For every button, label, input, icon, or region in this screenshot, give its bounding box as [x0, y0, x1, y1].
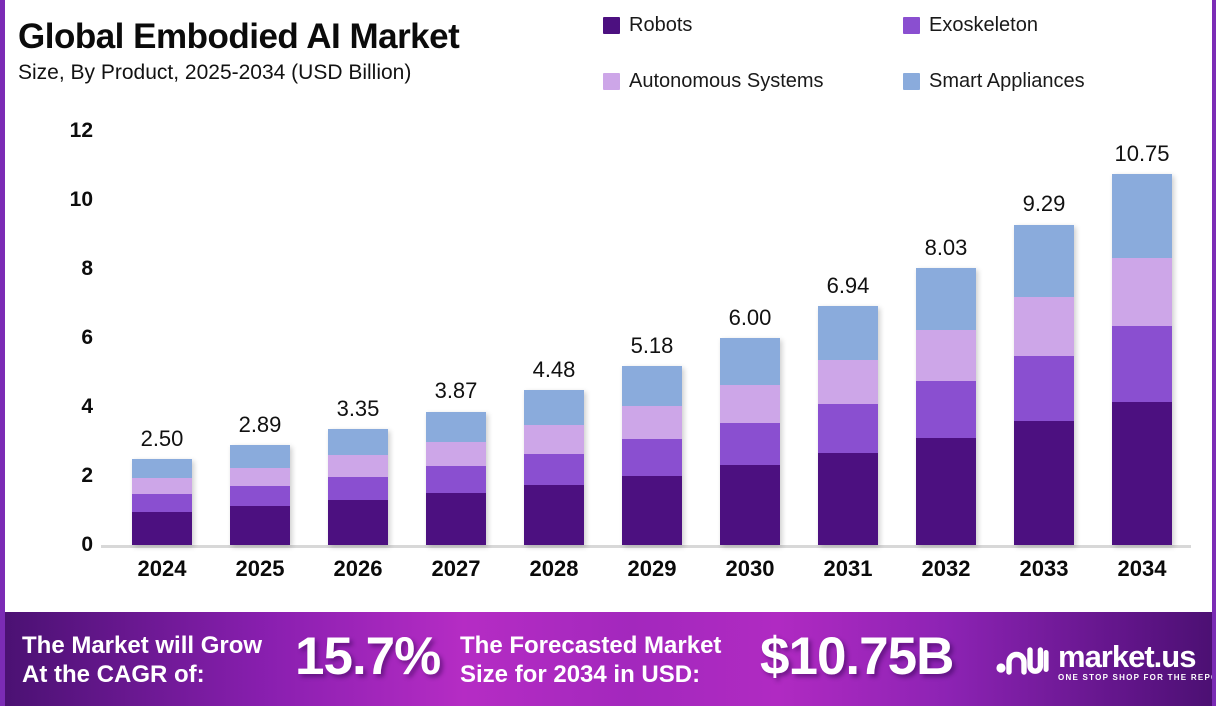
title-block: Global Embodied AI Market Size, By Produ…	[18, 16, 459, 87]
forecast-size-value: $10.75B	[760, 626, 953, 687]
forecast-size-label-line2: Size for 2034 in USD:	[460, 660, 721, 689]
cagr-label-line1: The Market will Grow	[22, 631, 262, 660]
footer-banner: The Market will Grow At the CAGR of: 15.…	[5, 612, 1212, 706]
legend-swatch-icon	[603, 73, 620, 90]
y-axis-tick: 0	[33, 533, 93, 557]
y-axis: 024681012	[21, 112, 93, 606]
legend-item-exoskeleton[interactable]: Exoskeleton	[903, 14, 1203, 36]
legend-swatch-icon	[603, 17, 620, 34]
x-axis-tick: 2025	[211, 556, 309, 582]
legend-label: Robots	[629, 14, 692, 36]
y-axis-tick: 4	[33, 395, 93, 419]
x-axis-tick: 2028	[505, 556, 603, 582]
page-title: Global Embodied AI Market	[18, 16, 459, 58]
brand-name: market.us	[1058, 642, 1212, 672]
x-axis-labels: 2024202520262027202820292030203120322033…	[101, 112, 1191, 606]
legend-label: Autonomous Systems	[629, 70, 824, 92]
cagr-label-line2: At the CAGR of:	[22, 660, 262, 689]
x-axis-tick: 2030	[701, 556, 799, 582]
forecast-size-label: The Forecasted Market Size for 2034 in U…	[460, 631, 721, 689]
cagr-value: 15.7%	[295, 626, 440, 687]
legend-item-autonomous-systems[interactable]: Autonomous Systems	[603, 70, 903, 92]
x-axis-tick: 2033	[995, 556, 1093, 582]
x-axis-tick: 2032	[897, 556, 995, 582]
chart-legend: Robots Exoskeleton Autonomous Systems Sm…	[603, 14, 1203, 106]
y-axis-tick: 8	[33, 257, 93, 281]
market-us-logo-icon	[993, 642, 1049, 683]
cagr-label: The Market will Grow At the CAGR of:	[22, 631, 262, 689]
y-axis-tick: 10	[33, 188, 93, 212]
forecast-size-label-line1: The Forecasted Market	[460, 631, 721, 660]
legend-swatch-icon	[903, 17, 920, 34]
x-axis-tick: 2024	[113, 556, 211, 582]
brand-text-block: market.us ONE STOP SHOP FOR THE REPORTS	[1058, 642, 1212, 683]
x-axis-tick: 2029	[603, 556, 701, 582]
chart-header: Global Embodied AI Market Size, By Produ…	[5, 0, 1212, 112]
chart-plot-area: 024681012 2.502.893.353.874.485.186.006.…	[5, 112, 1212, 606]
x-axis-tick: 2031	[799, 556, 897, 582]
legend-item-robots[interactable]: Robots	[603, 14, 903, 36]
brand-logo[interactable]: market.us ONE STOP SHOP FOR THE REPORTS	[993, 642, 1212, 683]
legend-swatch-icon	[903, 73, 920, 90]
legend-label: Smart Appliances	[929, 70, 1085, 92]
y-axis-tick: 6	[33, 326, 93, 350]
y-axis-tick: 12	[33, 119, 93, 143]
legend-label: Exoskeleton	[929, 14, 1038, 36]
x-axis-tick: 2027	[407, 556, 505, 582]
legend-item-smart-appliances[interactable]: Smart Appliances	[903, 70, 1203, 92]
chart-page: Global Embodied AI Market Size, By Produ…	[0, 0, 1216, 706]
page-subtitle: Size, By Product, 2025-2034 (USD Billion…	[18, 59, 459, 87]
brand-tagline: ONE STOP SHOP FOR THE REPORTS	[1058, 672, 1212, 683]
y-axis-tick: 2	[33, 464, 93, 488]
x-axis-tick: 2034	[1093, 556, 1191, 582]
x-axis-tick: 2026	[309, 556, 407, 582]
